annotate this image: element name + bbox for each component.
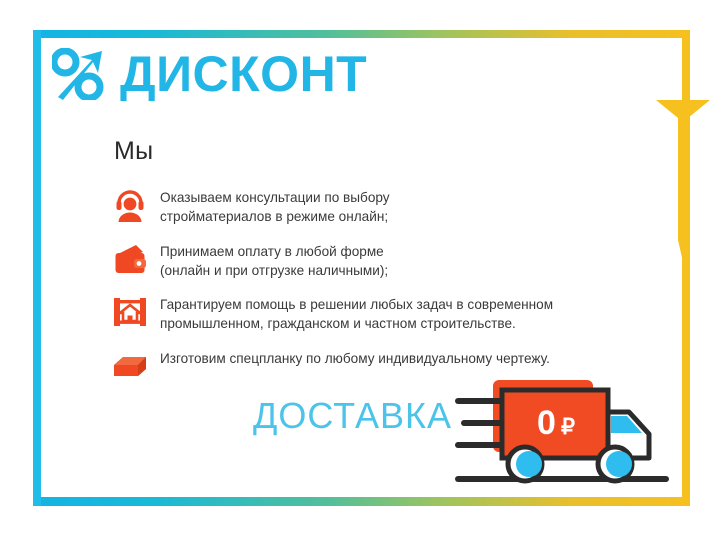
list-item-line1: Изготовим спецпланку по любому индивидуа… (160, 351, 550, 366)
percent-nail-icon (52, 48, 108, 100)
wallet-icon (112, 241, 148, 277)
list-item-line2: (онлайн и при отгрузке наличными); (160, 261, 388, 280)
watermark-text: Avito (632, 506, 694, 534)
headset-support-icon (112, 187, 148, 223)
list-item: Принимаем оплату в любой форме (онлайн и… (112, 240, 612, 281)
delivery-truck-icon: 0 ₽ (455, 376, 675, 494)
list-item: Гарантируем помощь в решении любых задач… (112, 293, 612, 334)
list-item-line1: Гарантируем помощь в решении любых задач… (160, 297, 553, 312)
frame-left-bar (33, 30, 41, 506)
list-item-line2: промышленном, гражданском и частном стро… (160, 314, 553, 333)
list-item-line1: Принимаем оплату в любой форме (160, 244, 384, 259)
frame-bottom-gradient (33, 497, 690, 506)
list-item-text: Принимаем оплату в любой форме (онлайн и… (160, 240, 388, 281)
frame-top-gradient (33, 30, 690, 38)
list-item-line1: Оказываем консультации по выбору (160, 190, 390, 205)
brick-plank-icon (112, 348, 148, 384)
benefits-list: Оказываем консультации по выбору стройма… (112, 186, 612, 397)
list-item-text: Изготовим спецпланку по любому индивидуа… (160, 347, 550, 368)
brand-title-row: ДИСКОНТ (52, 48, 367, 100)
page-title: ДИСКОНТ (120, 49, 367, 99)
discount-poster: ДИСКОНТ Мы Оказываем консультации по выб… (0, 0, 720, 540)
house-blueprint-icon (112, 294, 148, 330)
delivery-label: ДОСТАВКА (253, 398, 452, 434)
truck-price-value: 0 (537, 404, 556, 442)
truck-price-currency: ₽ (561, 414, 575, 439)
list-item-text: Гарантируем помощь в решении любых задач… (160, 293, 553, 334)
list-item-text: Оказываем консультации по выбору стройма… (160, 186, 390, 227)
avito-logo-icon: Avito (602, 504, 714, 534)
nail-icon (654, 92, 712, 274)
list-item: Оказываем консультации по выбору стройма… (112, 186, 612, 227)
list-item-line2: стройматериалов в режиме онлайн; (160, 207, 390, 226)
subtitle-heading: Мы (114, 137, 153, 166)
